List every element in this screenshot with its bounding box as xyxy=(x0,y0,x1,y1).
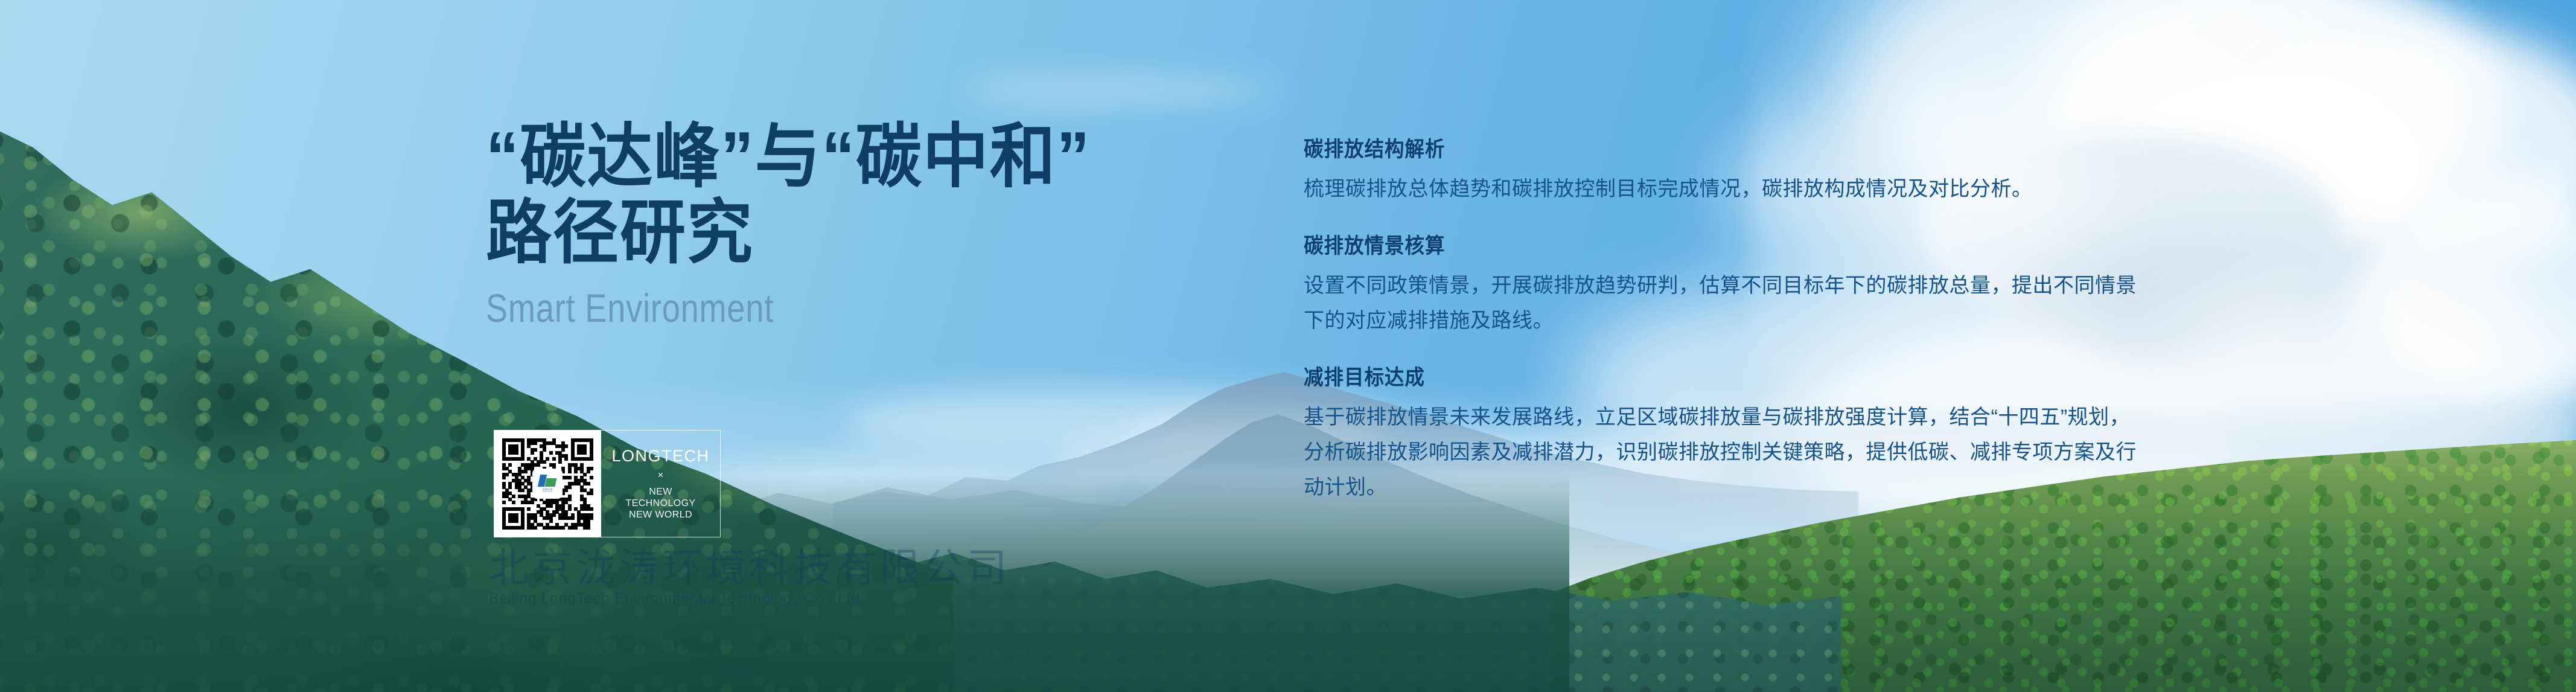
longtech-tagline: NEW TECHNOLOGY NEW WORLD xyxy=(625,486,695,521)
feature-sections: 碳排放结构解析 梳理碳排放总体趋势和碳排放控制目标完成情况，碳排放构成情况及对比… xyxy=(1304,138,2161,505)
title-line-1: “碳达峰”与“碳中和” xyxy=(486,118,1144,194)
qr-card[interactable]: 泷涛环境 LONGTECH LONGTECH × NEW TECHNOLOGY … xyxy=(494,430,721,537)
qr-logo-en: LONGTECH xyxy=(543,491,552,493)
longtech-panel: LONGTECH × NEW TECHNOLOGY NEW WORLD xyxy=(601,430,721,537)
qr-code[interactable]: 泷涛环境 LONGTECH xyxy=(494,430,601,537)
feature-section: 碳排放情景核算 设置不同政策情景，开展碳排放趋势研判，估算不同目标年下的碳排放总… xyxy=(1304,234,2161,338)
tagline-line-2: TECHNOLOGY xyxy=(625,498,695,509)
section-body: 设置不同政策情景，开展碳排放趋势研判，估算不同目标年下的碳排放总量，提出不同情景… xyxy=(1304,268,2149,338)
longtech-logo-mark xyxy=(539,475,556,487)
tagline-line-1: NEW xyxy=(625,486,695,498)
section-body: 基于碳排放情景未来发展路线，立足区域碳排放量与碳排放强度计算，结合“十四五”规划… xyxy=(1304,400,2149,505)
feature-section: 减排目标达成 基于碳排放情景未来发展路线，立足区域碳排放量与碳排放强度计算，结合… xyxy=(1304,366,2161,505)
hero-banner: “碳达峰”与“碳中和” 路径研究 Smart Environment 泷涛环境 … xyxy=(0,0,2576,692)
cross-icon: × xyxy=(658,469,664,481)
section-body: 梳理碳排放总体趋势和碳排放控制目标完成情况，碳排放构成情况及对比分析。 xyxy=(1304,171,2149,207)
tagline-line-3: NEW WORLD xyxy=(625,509,695,521)
section-heading: 碳排放情景核算 xyxy=(1304,234,2101,258)
section-heading: 碳排放结构解析 xyxy=(1304,138,2101,162)
section-heading: 减排目标达成 xyxy=(1304,366,2101,390)
page-title: “碳达峰”与“碳中和” 路径研究 Smart Environment xyxy=(486,118,1186,330)
qr-code-matrix: 泷涛环境 LONGTECH xyxy=(502,438,593,529)
qr-center-logo: 泷涛环境 LONGTECH xyxy=(534,470,561,498)
feature-section: 碳排放结构解析 梳理碳排放总体趋势和碳排放控制目标完成情况，碳排放构成情况及对比… xyxy=(1304,138,2161,207)
page-subtitle: Smart Environment xyxy=(486,286,1060,330)
cloud-shape xyxy=(966,72,1280,109)
title-line-2: 路径研究 xyxy=(486,194,1144,271)
foreground-foliage xyxy=(0,475,1569,692)
longtech-wordmark: LONGTECH xyxy=(611,447,709,465)
